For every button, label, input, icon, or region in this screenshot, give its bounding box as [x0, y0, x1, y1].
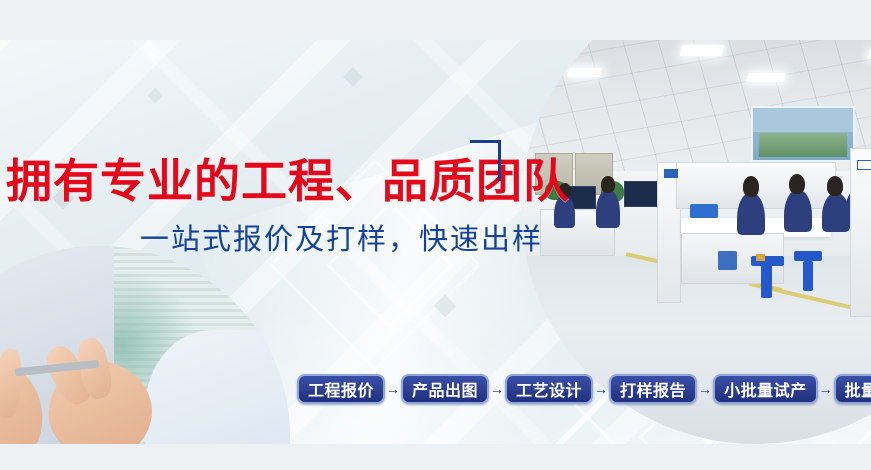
- banner-stage: 拥有专业的工程、品质团队 一站式报价及打样，快速出样 工程报价 → 产品出图 →…: [0, 0, 871, 470]
- process-step-2[interactable]: 产品出图: [401, 374, 489, 404]
- corner-bracket-decoration: [470, 140, 501, 181]
- process-step-5[interactable]: 小批量试产: [713, 374, 818, 404]
- process-step-6[interactable]: 批量量产: [834, 374, 871, 404]
- promo-banner: 拥有专业的工程、品质团队 一站式报价及打样，快速出样 工程报价 → 产品出图 →…: [0, 40, 871, 444]
- process-step-4[interactable]: 打样报告: [609, 374, 697, 404]
- flow-arrow-icon: →: [697, 382, 713, 396]
- process-step-3[interactable]: 工艺设计: [505, 374, 593, 404]
- page-top-band: [0, 0, 871, 40]
- process-step-1[interactable]: 工程报价: [297, 374, 385, 404]
- page-bottom-band: [0, 444, 871, 470]
- flow-arrow-icon: →: [489, 382, 505, 396]
- business-meeting-photo: [0, 246, 290, 444]
- flow-arrow-icon: →: [593, 382, 609, 396]
- flow-arrow-icon: →: [818, 382, 834, 396]
- process-flow: 工程报价 → 产品出图 → 工艺设计 → 打样报告 → 小批量试产 → 批量量产: [297, 374, 871, 404]
- flow-arrow-icon: →: [385, 382, 401, 396]
- banner-subheadline: 一站式报价及打样，快速出样: [140, 226, 543, 255]
